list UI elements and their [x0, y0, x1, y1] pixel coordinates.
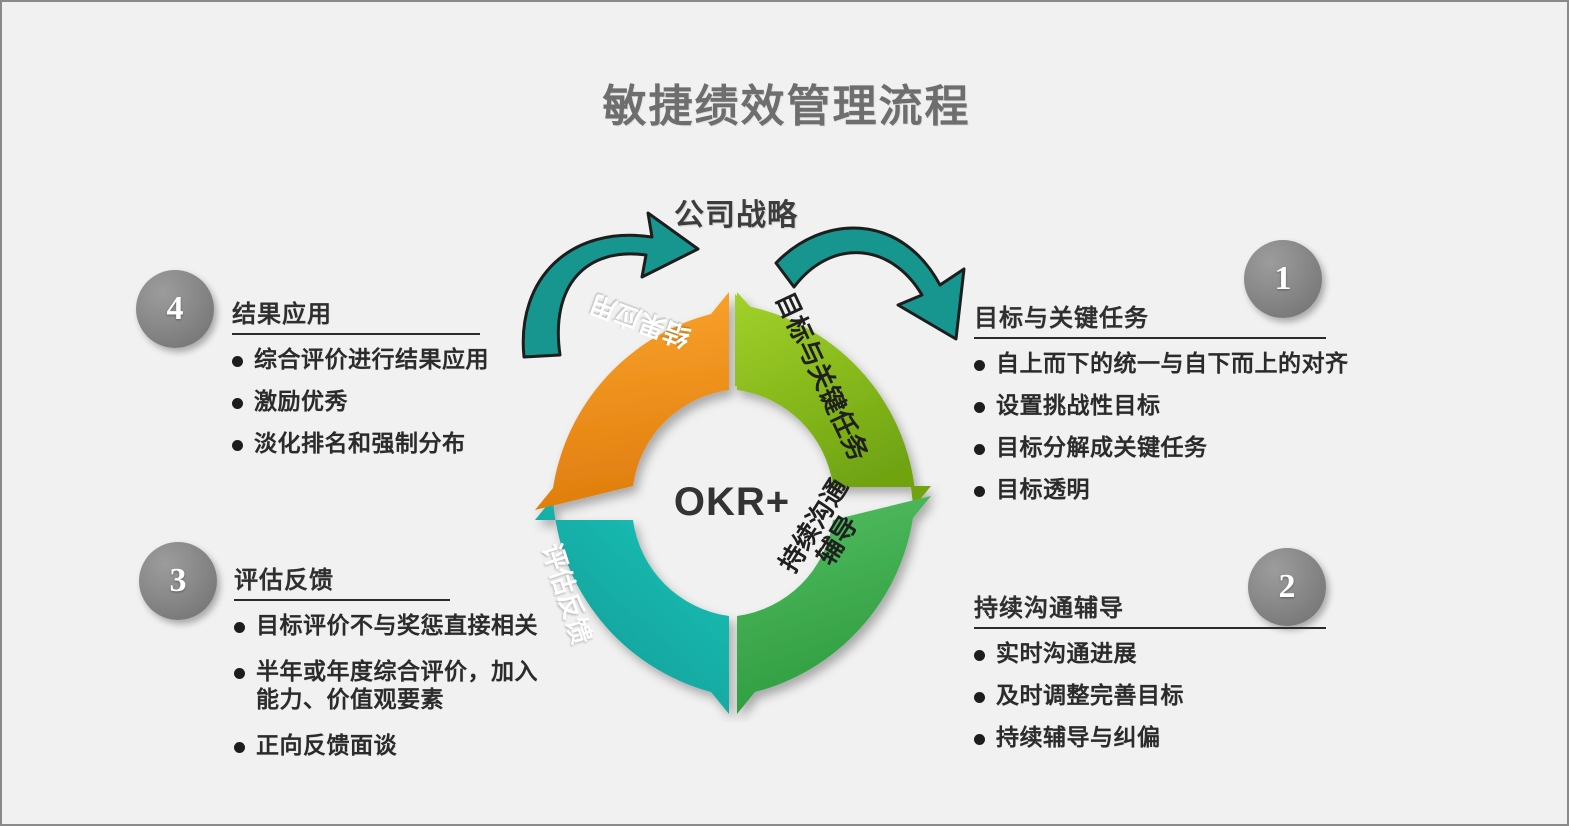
bullet-dot-icon — [974, 734, 985, 745]
section-communication-bullets: 实时沟通进展 及时调整完善目标 持续辅导与纠偏 — [974, 639, 1394, 751]
bullet-dot-icon — [974, 692, 985, 703]
list-item: 自上而下的统一与自下而上的对齐 — [974, 349, 1394, 377]
bullet-dot-icon — [974, 360, 985, 371]
bullet-dot-icon — [974, 650, 985, 661]
list-item-text: 目标分解成关键任务 — [996, 434, 1208, 460]
okr-cycle-donut — [507, 282, 957, 722]
section-results: 结果应用 综合评价进行结果应用 激励优秀 淡化排名和强制分布 — [232, 294, 552, 471]
list-item-text: 综合评价进行结果应用 — [254, 346, 489, 372]
bullet-dot-icon — [234, 742, 245, 753]
bullet-dot-icon — [234, 668, 245, 679]
bullet-dot-icon — [232, 440, 243, 451]
bullet-dot-icon — [974, 444, 985, 455]
section-goals: 目标与关键任务 自上而下的统一与自下而上的对齐 设置挑战性目标 目标分解成关键任… — [974, 298, 1394, 517]
bullet-dot-icon — [232, 356, 243, 367]
section-evaluation: 评估反馈 目标评价不与奖惩直接相关 半年或年度综合评价，加入能力、价值观要素 正… — [234, 560, 554, 777]
section-communication-heading: 持续沟通辅导 — [974, 588, 1326, 629]
list-item-text: 持续辅导与纠偏 — [996, 724, 1161, 750]
section-evaluation-heading: 评估反馈 — [234, 560, 450, 601]
list-item-text: 自上而下的统一与自下而上的对齐 — [996, 350, 1349, 376]
list-item-text: 正向反馈面谈 — [256, 732, 397, 758]
list-item-text: 淡化排名和强制分布 — [254, 430, 466, 456]
list-item-text: 及时调整完善目标 — [996, 682, 1184, 708]
list-item: 综合评价进行结果应用 — [232, 345, 552, 373]
page-title: 敏捷绩效管理流程 — [2, 70, 1569, 134]
list-item: 目标透明 — [974, 475, 1394, 503]
list-item: 及时调整完善目标 — [974, 681, 1394, 709]
list-item-text: 目标透明 — [996, 476, 1090, 502]
list-item-text: 半年或年度综合评价，加入能力、价值观要素 — [256, 658, 538, 712]
list-item: 半年或年度综合评价，加入能力、价值观要素 — [234, 657, 554, 713]
list-item: 正向反馈面谈 — [234, 731, 554, 759]
bullet-dot-icon — [234, 622, 245, 633]
list-item: 设置挑战性目标 — [974, 391, 1394, 419]
list-item: 淡化排名和强制分布 — [232, 429, 552, 457]
slide-canvas: 敏捷绩效管理流程 公司战略 — [0, 0, 1569, 826]
list-item: 目标评价不与奖惩直接相关 — [234, 611, 554, 639]
list-item: 实时沟通进展 — [974, 639, 1394, 667]
section-communication: 持续沟通辅导 实时沟通进展 及时调整完善目标 持续辅导与纠偏 — [974, 588, 1394, 765]
step-badge-3[interactable]: 3 — [139, 542, 217, 620]
section-goals-heading: 目标与关键任务 — [974, 298, 1326, 339]
list-item: 激励优秀 — [232, 387, 552, 415]
list-item: 目标分解成关键任务 — [974, 433, 1394, 461]
section-results-heading: 结果应用 — [232, 294, 480, 335]
list-item-text: 激励优秀 — [254, 388, 348, 414]
step-badge-4[interactable]: 4 — [136, 270, 214, 348]
section-goals-bullets: 自上而下的统一与自下而上的对齐 设置挑战性目标 目标分解成关键任务 目标透明 — [974, 349, 1394, 503]
list-item-text: 设置挑战性目标 — [996, 392, 1161, 418]
section-evaluation-bullets: 目标评价不与奖惩直接相关 半年或年度综合评价，加入能力、价值观要素 正向反馈面谈 — [234, 611, 554, 759]
list-item-text: 实时沟通进展 — [996, 640, 1137, 666]
bullet-dot-icon — [232, 398, 243, 409]
list-item: 持续辅导与纠偏 — [974, 723, 1394, 751]
list-item-text: 目标评价不与奖惩直接相关 — [256, 612, 538, 638]
bullet-dot-icon — [974, 486, 985, 497]
section-results-bullets: 综合评价进行结果应用 激励优秀 淡化排名和强制分布 — [232, 345, 552, 457]
bullet-dot-icon — [974, 402, 985, 413]
